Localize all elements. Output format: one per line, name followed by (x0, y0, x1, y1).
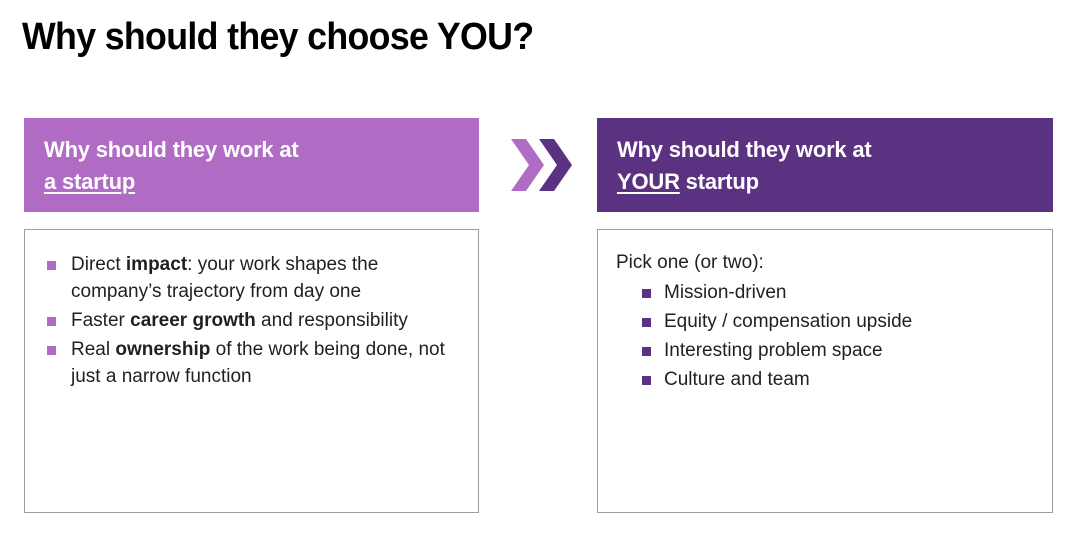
list-item: Equity / compensation upside (632, 309, 1036, 336)
chevron-first (511, 139, 544, 191)
right-header-line1: Why should they work at (617, 137, 872, 162)
list-item: Real ownership of the work being done, n… (37, 337, 462, 391)
left-header-line1: Why should they work at (44, 137, 299, 162)
left-column-header: Why should they work at a startup (24, 118, 479, 212)
list-item: Mission-driven (632, 280, 1036, 307)
double-chevron-right-icon (508, 138, 574, 192)
right-column: Why should they work at YOUR startup Pic… (597, 118, 1053, 212)
list-item-text: Direct (71, 254, 126, 275)
list-item-text: Culture and team (664, 369, 810, 390)
list-item-text: Equity / compensation upside (664, 311, 912, 332)
right-panel-intro: Pick one (or two): (616, 250, 1036, 277)
emphasis-text: ownership (115, 339, 210, 360)
list-item-text: Mission-driven (664, 282, 786, 303)
right-header-line2-emphasis: YOUR (617, 169, 680, 194)
right-header-line2-rest: startup (680, 169, 759, 194)
list-item-text: and responsibility (256, 310, 408, 331)
right-column-header: Why should they work at YOUR startup (597, 118, 1053, 212)
left-bullet-list: Direct impact: your work shapes the comp… (37, 252, 462, 391)
page-title: Why should they choose YOU? (22, 16, 533, 60)
left-column: Why should they work at a startup Direct… (24, 118, 479, 212)
list-item-text: Interesting problem space (664, 340, 883, 361)
left-header-line2: a startup (44, 169, 135, 194)
list-item-text: Faster (71, 310, 130, 331)
left-content-panel: Direct impact: your work shapes the comp… (24, 229, 479, 513)
list-item: Interesting problem space (632, 338, 1036, 365)
list-item: Faster career growth and responsibility (37, 308, 462, 335)
right-bullet-list: Mission-drivenEquity / compensation upsi… (616, 280, 1036, 394)
list-item: Culture and team (632, 367, 1036, 394)
emphasis-text: career growth (130, 310, 256, 331)
emphasis-text: impact (126, 254, 187, 275)
list-item-text: Real (71, 339, 115, 360)
right-content-panel: Pick one (or two): Mission-drivenEquity … (597, 229, 1053, 513)
list-item: Direct impact: your work shapes the comp… (37, 252, 462, 306)
